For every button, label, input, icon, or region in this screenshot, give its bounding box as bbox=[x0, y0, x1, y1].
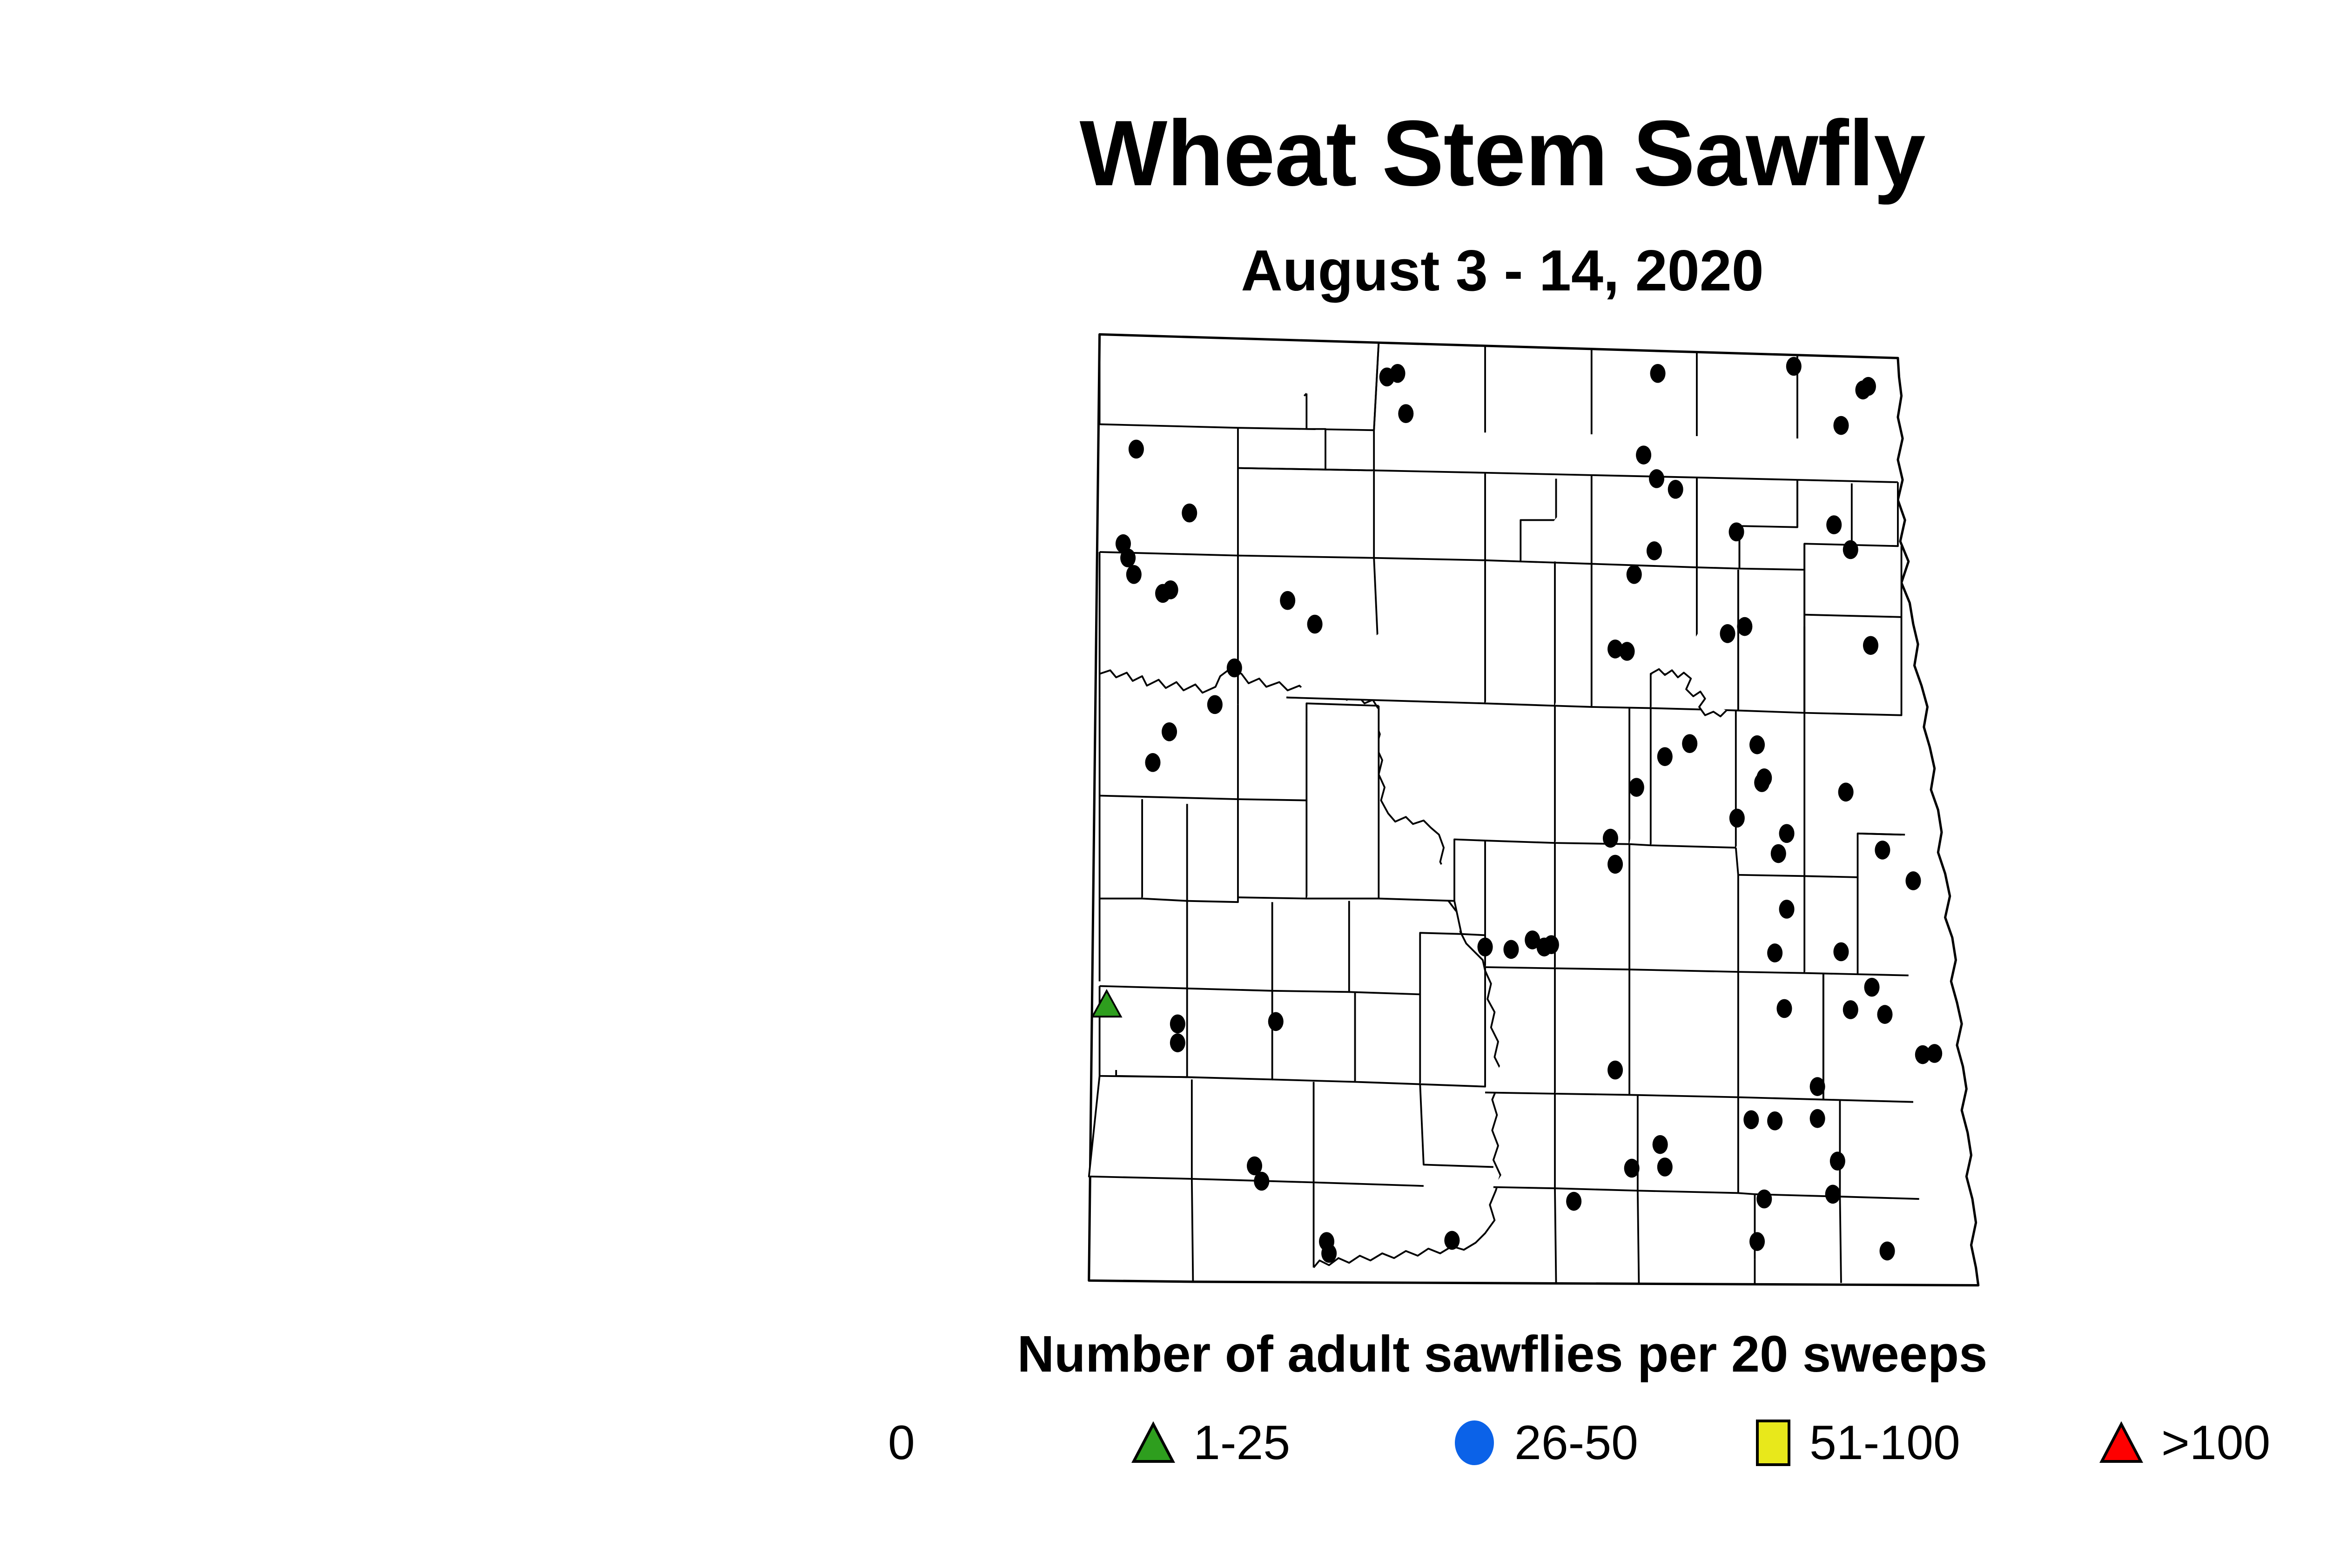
sawfly-map-figure: Wheat Stem Sawfly August 3 - 14, 2020 bbox=[0, 0, 2327, 1568]
survey-site-marker bbox=[1771, 844, 1786, 863]
survey-site-marker bbox=[1729, 522, 1744, 541]
legend-entry-0: 0 bbox=[870, 1410, 915, 1475]
survey-site-marker bbox=[1830, 1151, 1845, 1171]
survey-site-marker bbox=[1657, 1157, 1673, 1177]
survey-site-marker bbox=[1629, 778, 1644, 797]
legend-label: 0 bbox=[888, 1419, 915, 1467]
survey-site-marker bbox=[1627, 565, 1642, 584]
survey-site-marker bbox=[1398, 404, 1413, 423]
survey-site-marker bbox=[1619, 642, 1634, 661]
survey-site-marker bbox=[1603, 829, 1618, 848]
survey-site-marker bbox=[1927, 1044, 1942, 1063]
survey-site-marker bbox=[1749, 735, 1765, 754]
survey-site-marker bbox=[1162, 722, 1177, 741]
page-title: Wheat Stem Sawfly bbox=[0, 107, 2327, 200]
survey-site-marker bbox=[1861, 377, 1876, 396]
legend-entry-125: 1-25 bbox=[1131, 1410, 1290, 1475]
survey-site-marker bbox=[1268, 1012, 1284, 1031]
survey-site-marker bbox=[1307, 615, 1323, 634]
survey-site-marker bbox=[1767, 943, 1782, 962]
survey-site-marker bbox=[1129, 440, 1144, 459]
county-boundaries bbox=[1089, 334, 1978, 1285]
survey-site-marker bbox=[1566, 1192, 1581, 1211]
survey-site-marker bbox=[1682, 734, 1697, 753]
survey-site-marker bbox=[1864, 978, 1880, 997]
survey-site-marker bbox=[1120, 548, 1136, 567]
county-border-l11 bbox=[1192, 1179, 1193, 1282]
survey-site-marker bbox=[1668, 480, 1683, 499]
legend-triangle-icon bbox=[1131, 1421, 1176, 1464]
survey-site-marker bbox=[1756, 1190, 1772, 1209]
survey-site-marker bbox=[1838, 783, 1854, 802]
survey-site-marker bbox=[1743, 1110, 1759, 1129]
legend-label: 51-100 bbox=[1809, 1419, 1960, 1467]
survey-site-marker bbox=[1875, 841, 1890, 860]
survey-site-marker bbox=[1170, 1015, 1185, 1034]
legend-label: 1-25 bbox=[1193, 1419, 1290, 1467]
survey-site-marker bbox=[1833, 942, 1849, 962]
survey-site-marker bbox=[1767, 1111, 1782, 1131]
survey-site-marker bbox=[1779, 824, 1795, 843]
survey-site-marker bbox=[1544, 935, 1559, 954]
square-icon bbox=[1755, 1418, 1792, 1467]
survey-site-marker bbox=[1478, 937, 1493, 956]
legend-circle-icon bbox=[1452, 1420, 1497, 1466]
survey-site-marker bbox=[1810, 1077, 1825, 1096]
legend-label: 26-50 bbox=[1514, 1419, 1638, 1467]
survey-site-marker bbox=[1826, 515, 1842, 534]
survey-site-marker bbox=[1636, 445, 1651, 464]
survey-site-marker bbox=[1170, 1033, 1185, 1052]
legend-triangle-icon bbox=[2099, 1421, 2144, 1464]
county-border-c13 bbox=[1858, 834, 1902, 835]
survey-site-marker bbox=[1779, 900, 1795, 919]
county-border-e22 bbox=[1840, 1197, 1841, 1283]
map-svg bbox=[707, 307, 2327, 1312]
legend-entry-100: >100 bbox=[2099, 1410, 2270, 1475]
survey-site-marker bbox=[1145, 753, 1160, 772]
survey-site-marker bbox=[1754, 773, 1769, 792]
survey-site-marker bbox=[1126, 565, 1142, 584]
survey-site-marker bbox=[1650, 364, 1666, 383]
survey-site-marker bbox=[1720, 624, 1735, 643]
triangle-icon bbox=[2099, 1421, 2144, 1464]
survey-site-marker bbox=[1786, 357, 1802, 376]
legend-entry-51100: 51-100 bbox=[1755, 1410, 1960, 1475]
survey-site-marker bbox=[1833, 416, 1849, 435]
survey-site-marker bbox=[1825, 1185, 1841, 1204]
north-dakota-county-map bbox=[707, 307, 2327, 1312]
survey-site-marker bbox=[1810, 1109, 1825, 1128]
survey-site-marker bbox=[1729, 808, 1745, 828]
survey-site-marker bbox=[1390, 364, 1405, 383]
survey-site-marker bbox=[1843, 540, 1858, 559]
survey-site-marker bbox=[1863, 636, 1878, 655]
survey-site-marker bbox=[1657, 747, 1673, 766]
survey-site-marker bbox=[1207, 695, 1223, 714]
survey-site-marker bbox=[1737, 617, 1752, 636]
county-border-e19 bbox=[1555, 1188, 1556, 1283]
county-border-e20 bbox=[1638, 1191, 1639, 1283]
legend-label: >100 bbox=[2161, 1419, 2270, 1467]
survey-site-marker bbox=[1254, 1172, 1269, 1191]
circle-icon bbox=[1452, 1420, 1497, 1466]
survey-site-marker bbox=[1607, 855, 1623, 874]
tier-line-2 bbox=[1238, 428, 1374, 470]
legend-entry-2650: 26-50 bbox=[1452, 1410, 1638, 1475]
survey-site-marker bbox=[1624, 1159, 1640, 1178]
survey-site-marker bbox=[1653, 1135, 1668, 1154]
survey-site-marker bbox=[1444, 1231, 1459, 1250]
survey-site-marker bbox=[1880, 1242, 1895, 1261]
legend: 01-2526-5051-100>100 bbox=[870, 1410, 2313, 1480]
legend-title: Number of adult sawflies per 20 sweeps bbox=[0, 1329, 2327, 1380]
survey-site-marker bbox=[1321, 1244, 1337, 1263]
survey-site-marker bbox=[1905, 871, 1921, 890]
survey-site-marker bbox=[1749, 1232, 1765, 1251]
legend-square-icon bbox=[1755, 1418, 1792, 1467]
survey-site-marker bbox=[1182, 504, 1197, 523]
survey-site-marker bbox=[1163, 580, 1178, 599]
survey-site-marker bbox=[1607, 1061, 1623, 1080]
survey-site-marker bbox=[1776, 999, 1792, 1018]
survey-site-marker bbox=[1843, 1000, 1858, 1019]
survey-site-marker bbox=[1227, 659, 1242, 678]
survey-site-marker bbox=[1877, 1005, 1892, 1024]
county-border-e6 bbox=[1858, 974, 1909, 976]
date-range-subtitle: August 3 - 14, 2020 bbox=[0, 242, 2327, 300]
survey-site-marker bbox=[1503, 940, 1519, 959]
survey-site-marker bbox=[1649, 469, 1664, 488]
survey-site-marker bbox=[1647, 541, 1662, 560]
survey-site-marker bbox=[1280, 591, 1295, 610]
triangle-icon bbox=[1131, 1421, 1176, 1464]
